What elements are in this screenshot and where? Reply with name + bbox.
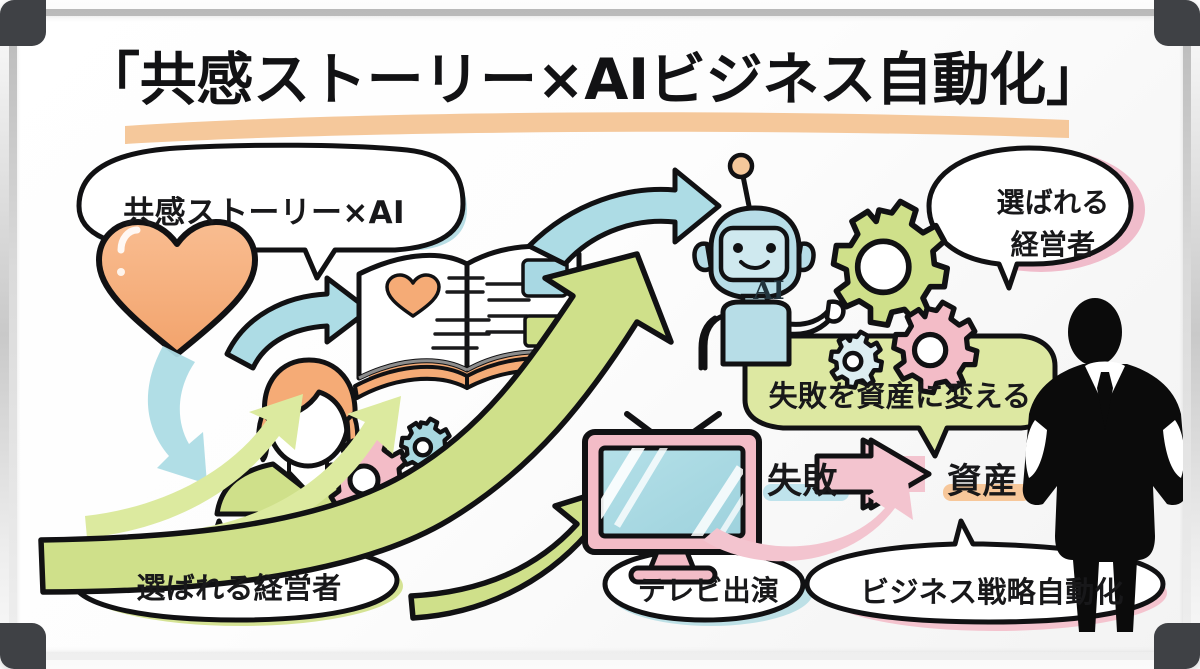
heart-illustration — [99, 222, 255, 354]
frame-corner-cap-top-left — [0, 0, 46, 46]
heart-to-book-arrow — [227, 278, 369, 368]
frame-corner-cap-top-right — [1154, 0, 1200, 46]
speech-bubble-chosen-executive-top[interactable] — [929, 148, 1145, 288]
bubble-to-woman-arrow — [148, 346, 207, 484]
gear-medium-pink — [894, 302, 977, 392]
whiteboard-surface: 「共感ストーリー×AIビジネス自動化」 共感ストーリー×AI 選ばれる 経営者 … — [17, 16, 1183, 652]
whiteboard-infographic: 「共感ストーリー×AIビジネス自動化」 共感ストーリー×AI 選ばれる 経営者 … — [0, 0, 1200, 669]
book-to-robot-arrow — [529, 170, 719, 264]
frame-corner-cap-bottom-right — [1154, 623, 1200, 669]
title-highlight-stroke — [125, 112, 1069, 144]
asset-word-highlight — [943, 484, 1031, 501]
drawing-canvas: 「共感ストーリー×AIビジネス自動化」 共感ストーリー×AI 選ばれる 経営者 … — [17, 16, 1183, 652]
frame-corner-cap-bottom-left — [0, 623, 46, 669]
infographic-vector-layer — [17, 16, 1183, 652]
